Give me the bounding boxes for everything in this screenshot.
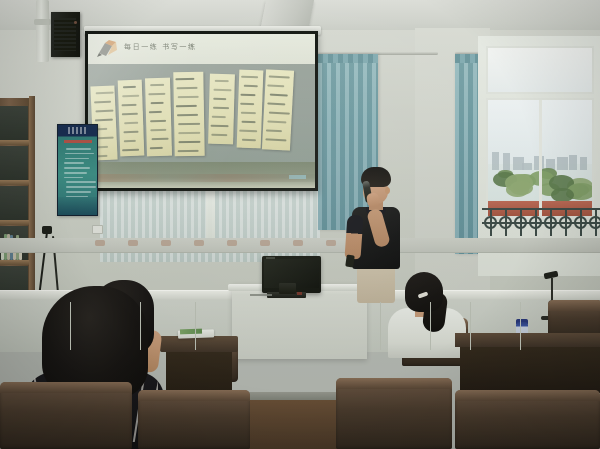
- presenter-arm-left: [344, 214, 363, 259]
- projection-screen: 每日一练 书写一练: [88, 34, 315, 188]
- chair-backrest-top: [336, 378, 452, 389]
- counter-seam: [470, 302, 471, 350]
- tree-foliage: [510, 181, 532, 195]
- dado-marker: [260, 240, 270, 246]
- monitor-logo: [266, 257, 275, 259]
- chair-backrest-top: [138, 390, 250, 401]
- slide-header: 每日一练 书写一练: [88, 34, 315, 65]
- dado-marker: [326, 240, 336, 246]
- presenter-trousers: [357, 266, 395, 303]
- poster-headline: [64, 140, 92, 143]
- railing-post: [535, 210, 537, 236]
- wall-dado-markers: [95, 240, 385, 247]
- shelf-board: [0, 220, 30, 225]
- student-desk-right-body: [460, 345, 600, 393]
- presenter-hand: [366, 192, 380, 208]
- dado-marker: [95, 240, 105, 246]
- student-desk-right: [455, 333, 600, 347]
- poster-text-lines: [63, 148, 94, 201]
- tree-foliage: [551, 188, 574, 203]
- presentation-clicker: [345, 255, 355, 268]
- railing-post: [565, 210, 567, 236]
- poster-text-line: [65, 153, 94, 155]
- slide-body: [88, 64, 315, 162]
- dado-marker: [227, 240, 237, 246]
- desk-cable: [250, 294, 272, 296]
- slide-footer: [88, 162, 315, 188]
- shelf-compartment: [0, 146, 28, 180]
- poster-text-line: [66, 186, 96, 188]
- railing-post: [580, 210, 582, 236]
- calligraphy-strip: [118, 80, 145, 157]
- calligraphy-brush-icon: [97, 40, 119, 57]
- counter-seam: [380, 302, 381, 350]
- chair-backrest-top: [548, 300, 600, 311]
- window-transom: [486, 46, 594, 94]
- poster-text-line: [66, 148, 91, 150]
- railing-post: [520, 210, 522, 236]
- shelf-compartment: [0, 106, 28, 140]
- chair-left-front-b: [138, 390, 250, 449]
- counter-seam: [70, 302, 71, 350]
- slide-footer-tag: [289, 175, 306, 179]
- counter-seam: [430, 302, 431, 350]
- balcony-railing: [482, 208, 600, 242]
- chair-backrest-top: [0, 382, 132, 393]
- green-booklet: [180, 329, 202, 335]
- dado-marker: [128, 240, 138, 246]
- railing-post: [550, 210, 552, 236]
- desk-indicator: [297, 292, 302, 295]
- presenter-ear: [385, 187, 390, 194]
- speaker-grille: [54, 18, 76, 51]
- calligraphy-strip: [262, 69, 294, 150]
- poster-logo: [68, 127, 88, 134]
- dado-marker: [194, 240, 204, 246]
- counter-seam: [520, 302, 521, 350]
- chair-left-front-a: [0, 382, 132, 449]
- poster-text-line: [66, 181, 96, 183]
- bookshelf: [0, 98, 30, 298]
- chair-right-front: [455, 390, 600, 449]
- window-main: [486, 98, 594, 218]
- presenter: [344, 167, 408, 303]
- counter-seam: [195, 302, 196, 350]
- calligraphy-strip: [237, 70, 264, 149]
- poster-text-line: [64, 162, 84, 164]
- student-desk-left: [160, 336, 238, 352]
- bookshelf-side-panel: [29, 96, 35, 301]
- dado-marker: [293, 240, 303, 246]
- poster-wave-graphic: [58, 197, 97, 215]
- poster-text-line: [66, 191, 91, 193]
- chair-backrest-top: [455, 390, 600, 401]
- projection-screen-frame: 每日一练 书写一练: [85, 31, 318, 191]
- shelf-board: [0, 180, 30, 185]
- poster-text-line: [65, 158, 88, 160]
- dado-marker: [161, 240, 171, 246]
- speaker-led-icon: [74, 21, 77, 24]
- desk-device-box: [279, 283, 296, 294]
- slide-title: 每日一练 书写一练: [124, 42, 197, 52]
- poster-text-line: [64, 177, 83, 179]
- shelf-board: [0, 260, 30, 265]
- shelf-board: [0, 140, 30, 145]
- wall-outlet: [92, 225, 103, 234]
- shelf-compartment: [0, 186, 28, 220]
- curtain-heading-a: [318, 54, 378, 63]
- wall-poster: [57, 124, 98, 216]
- chair-center: [336, 378, 452, 449]
- calligraphy-strip: [208, 74, 235, 145]
- railing-bar: [482, 208, 600, 210]
- wall-pipe: [36, 0, 49, 62]
- poster-text-line: [64, 172, 87, 174]
- counter-seam: [140, 302, 141, 350]
- railing-post: [490, 210, 492, 236]
- poster-text-line: [64, 167, 90, 169]
- classroom-photo: 每日一练 书写一练: [0, 0, 600, 449]
- railing-post: [505, 210, 507, 236]
- calligraphy-strip: [173, 72, 204, 157]
- wall-pipe-collar: [34, 19, 51, 25]
- calligraphy-strip: [145, 78, 172, 157]
- window-mullion-v: [539, 100, 542, 216]
- railing-post: [595, 210, 597, 236]
